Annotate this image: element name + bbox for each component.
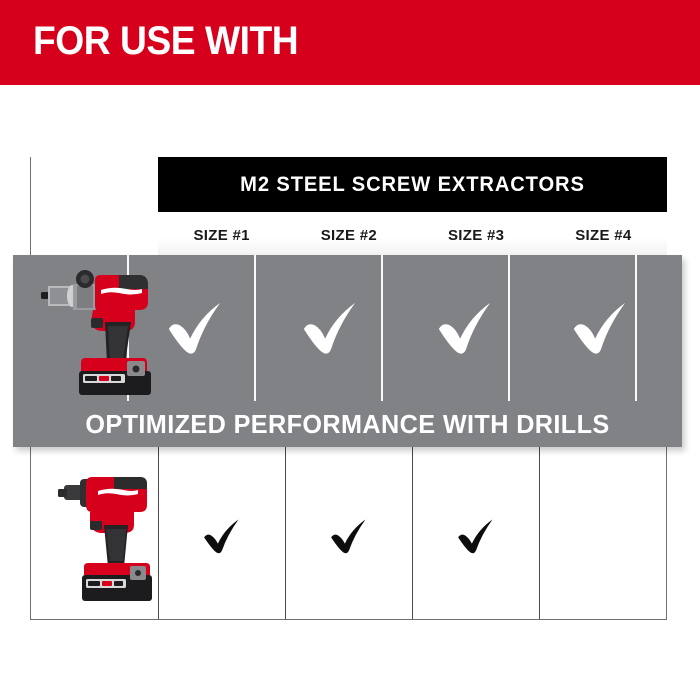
table-cell-impact-size-4: [540, 453, 667, 619]
table-row: [30, 453, 667, 619]
impact-driver-image: [54, 463, 164, 608]
table-cell-impact-size-1: [158, 453, 285, 619]
panel-cell-drill-size-3: [398, 255, 533, 401]
table-title-bar: M2 STEEL SCREW EXTRACTORS: [158, 157, 667, 212]
checkmark-icon: [200, 514, 244, 558]
table-header-row: SIZE #1 SIZE #2 SIZE #3 SIZE #4: [158, 212, 667, 258]
column-header-size-4: SIZE #4: [540, 212, 667, 258]
table-cell-impact-size-2: [285, 453, 412, 619]
column-header-size-1: SIZE #1: [158, 212, 285, 258]
page-title: FOR USE WITH: [33, 21, 298, 61]
column-header-label: SIZE #3: [448, 227, 504, 244]
header-band: FOR USE WITH: [0, 0, 700, 85]
checkmark-icon: [569, 297, 631, 359]
optimized-performance-label: OPTIMIZED PERFORMANCE WITH DRILLS: [23, 401, 672, 447]
milwaukee-impact-driver-icon: [54, 463, 164, 608]
checkmark-icon: [164, 297, 226, 359]
table-cell-impact-size-3: [413, 453, 540, 619]
panel-cell-drill-size-4: [532, 255, 667, 401]
grid-line-bottom: [30, 619, 667, 620]
panel-checkmark-row: [128, 255, 667, 401]
checkmark-icon: [327, 514, 371, 558]
checkmark-icon: [454, 514, 498, 558]
column-header-size-3: SIZE #3: [413, 212, 540, 258]
panel-cell-drill-size-1: [128, 255, 263, 401]
column-header-size-2: SIZE #2: [285, 212, 412, 258]
column-header-label: SIZE #2: [321, 227, 377, 244]
column-header-label: SIZE #4: [575, 227, 631, 244]
panel-cell-drill-size-2: [263, 255, 398, 401]
column-header-label: SIZE #1: [193, 227, 249, 244]
table-title-label: M2 STEEL SCREW EXTRACTORS: [240, 173, 585, 197]
checkmark-icon: [299, 297, 361, 359]
optimized-performance-panel: OPTIMIZED PERFORMANCE WITH DRILLS: [13, 255, 682, 447]
checkmark-icon: [434, 297, 496, 359]
